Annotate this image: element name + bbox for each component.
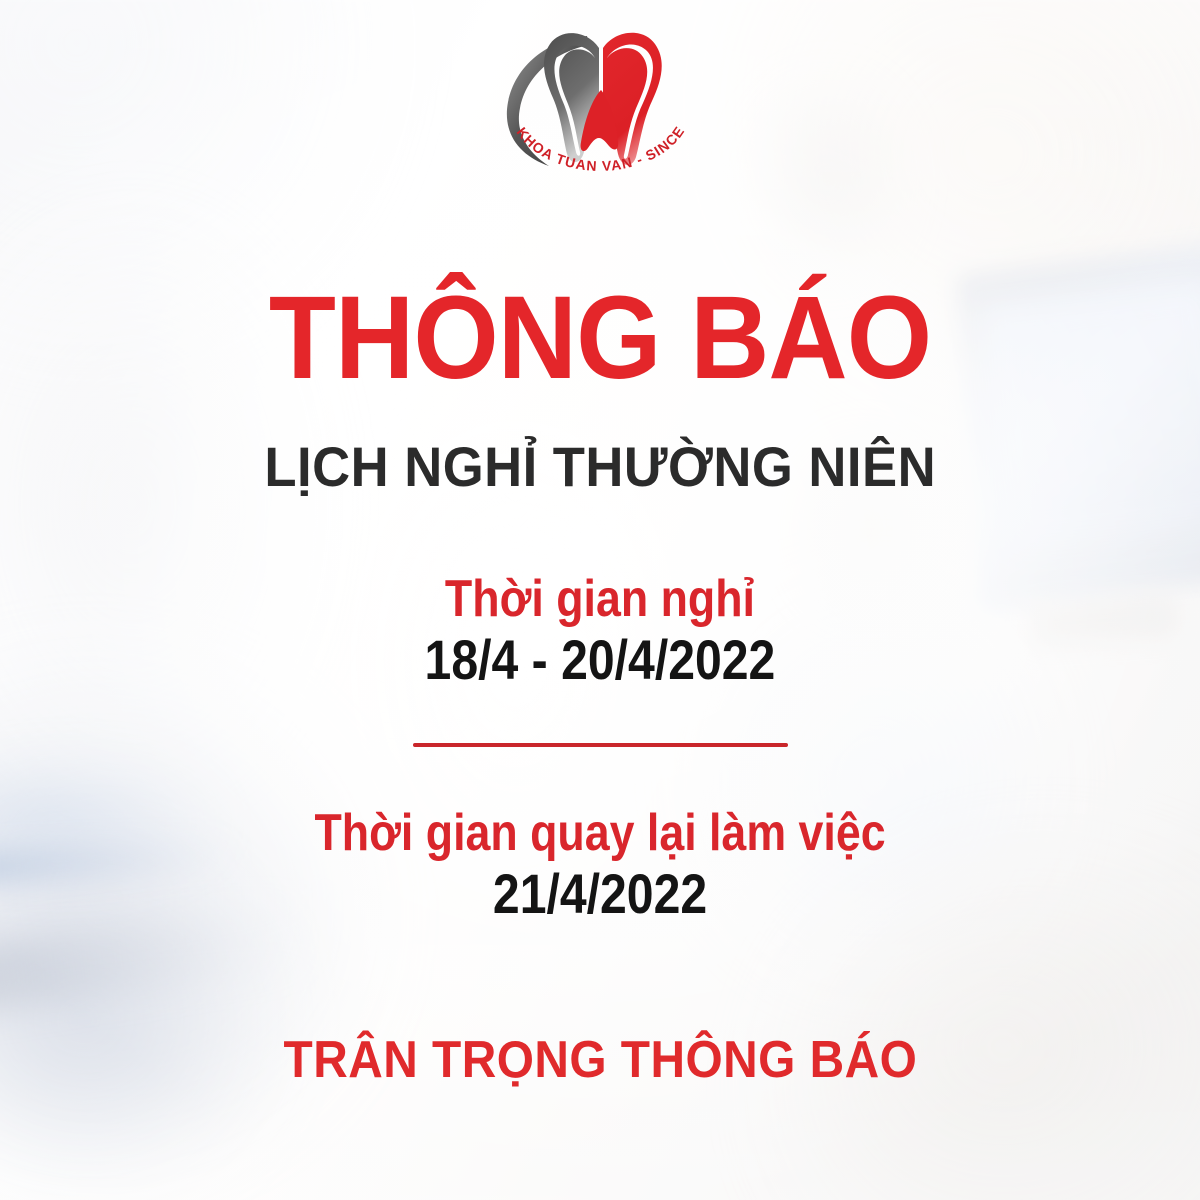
page-subtitle: LỊCH NGHỈ THƯỜNG NIÊN — [264, 439, 936, 495]
announcement-poster: NHA KHOA TUAN VAN - SINCE 1998 THÔNG BÁO… — [0, 0, 1200, 1200]
tooth-logo-icon: NHA KHOA TUAN VAN - SINCE 1998 — [475, 14, 725, 182]
return-date-label: Thời gian quay lại làm việc — [314, 805, 885, 862]
section-divider — [413, 743, 788, 747]
page-title: THÔNG BÁO — [269, 282, 931, 395]
poster-content: NHA KHOA TUAN VAN - SINCE 1998 THÔNG BÁO… — [0, 0, 1200, 1200]
return-date-value: 21/4/2022 — [314, 862, 885, 926]
return-date-block: Thời gian quay lại làm việc 21/4/2022 — [268, 805, 932, 927]
closing-statement: TRÂN TRỌNG THÔNG BÁO — [283, 1034, 917, 1086]
leave-period-value: 18/4 - 20/4/2022 — [425, 628, 776, 692]
leave-period-block: Thời gian nghỉ 18/4 - 20/4/2022 — [396, 571, 804, 693]
leave-period-label: Thời gian nghỉ — [425, 571, 776, 628]
